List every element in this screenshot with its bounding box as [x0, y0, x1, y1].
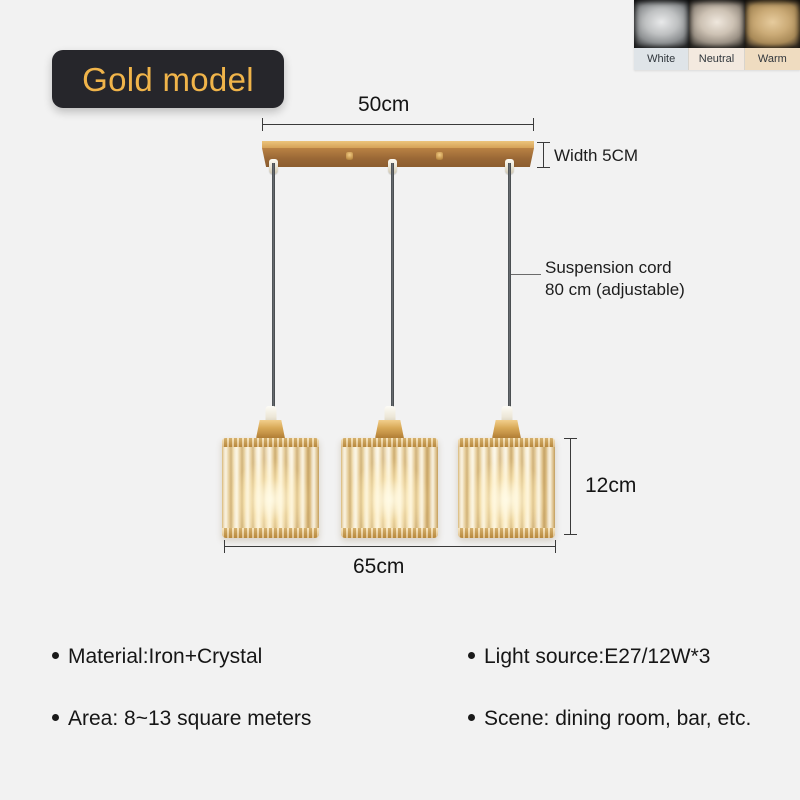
suspension-cord-2 — [391, 163, 394, 413]
leader-line-suspension-cord — [511, 274, 541, 275]
cct-swatch-white-icon — [634, 0, 689, 48]
cct-label-white: White — [634, 48, 689, 70]
canopy-screw-left — [346, 152, 353, 160]
bullet-icon — [52, 714, 59, 721]
spec-text-scene: Scene: dining room, bar, etc. — [484, 707, 751, 731]
canopy-body — [262, 148, 534, 167]
dimension-line-canopy-width — [262, 124, 534, 125]
shade-band-bottom-2 — [341, 528, 438, 538]
spec-text-material: Material:Iron+Crystal — [68, 645, 262, 669]
pendant-light-1 — [222, 406, 319, 548]
spec-item-light-source: Light source:E27/12W*3 — [468, 645, 751, 669]
bullet-icon — [468, 652, 475, 659]
dimension-label-shade-height: 12cm — [585, 474, 636, 498]
cct-label-neutral: Neutral — [689, 48, 744, 70]
spec-item-scene: Scene: dining room, bar, etc. — [468, 707, 751, 731]
cct-swatch-warm-icon — [745, 0, 800, 48]
dimension-label-suspension-cord: Suspension cord 80 cm (adjustable) — [545, 257, 685, 302]
cct-option-warm[interactable]: Warm — [745, 0, 800, 70]
spec-text-area: Area: 8~13 square meters — [68, 707, 311, 731]
canopy-screw-right — [436, 152, 443, 160]
crystal-shade-2 — [341, 438, 438, 538]
spec-text-light-source: Light source:E27/12W*3 — [484, 645, 710, 669]
pendant-light-3 — [458, 406, 555, 548]
canopy-plate — [262, 141, 534, 167]
suspension-cord-3 — [508, 163, 511, 413]
dimension-line-shade-height — [570, 438, 571, 535]
suspension-cord-1 — [272, 163, 275, 413]
dimension-label-canopy-depth: Width 5CM — [554, 145, 638, 167]
crystal-shade-1 — [222, 438, 319, 538]
cct-option-white[interactable]: White — [634, 0, 689, 70]
cct-swatch-neutral-icon — [689, 0, 744, 48]
cct-label-warm: Warm — [745, 48, 800, 70]
color-temperature-strip: White Neutral Warm — [634, 0, 800, 70]
dimension-line-canopy-depth — [543, 142, 544, 168]
bullet-icon — [468, 714, 475, 721]
cct-option-neutral[interactable]: Neutral — [689, 0, 744, 70]
model-badge-label: Gold model — [82, 63, 254, 96]
crystal-shade-3 — [458, 438, 555, 538]
specification-column-left: Material:Iron+Crystal Area: 8~13 square … — [52, 645, 311, 769]
shade-glow-1 — [222, 438, 319, 538]
specification-column-right: Light source:E27/12W*3 Scene: dining roo… — [468, 645, 751, 769]
shade-band-top-2 — [341, 438, 438, 447]
shade-glow-3 — [458, 438, 555, 538]
dimension-label-overall-width: 65cm — [353, 555, 404, 579]
shade-glow-2 — [341, 438, 438, 538]
spec-item-material: Material:Iron+Crystal — [52, 645, 311, 669]
dimension-line-overall-width — [224, 546, 556, 547]
pendant-light-2 — [341, 406, 438, 548]
spec-item-area: Area: 8~13 square meters — [52, 707, 311, 731]
canopy-top-edge — [262, 141, 534, 148]
shade-band-top-1 — [222, 438, 319, 447]
product-spec-canvas: White Neutral Warm Gold model 50cm Width… — [0, 0, 800, 800]
shade-band-bottom-1 — [222, 528, 319, 538]
specification-list: Material:Iron+Crystal Area: 8~13 square … — [0, 645, 800, 765]
dimension-label-canopy-width: 50cm — [358, 93, 409, 117]
bullet-icon — [52, 652, 59, 659]
shade-band-bottom-3 — [458, 528, 555, 538]
model-badge: Gold model — [52, 50, 284, 108]
shade-band-top-3 — [458, 438, 555, 447]
